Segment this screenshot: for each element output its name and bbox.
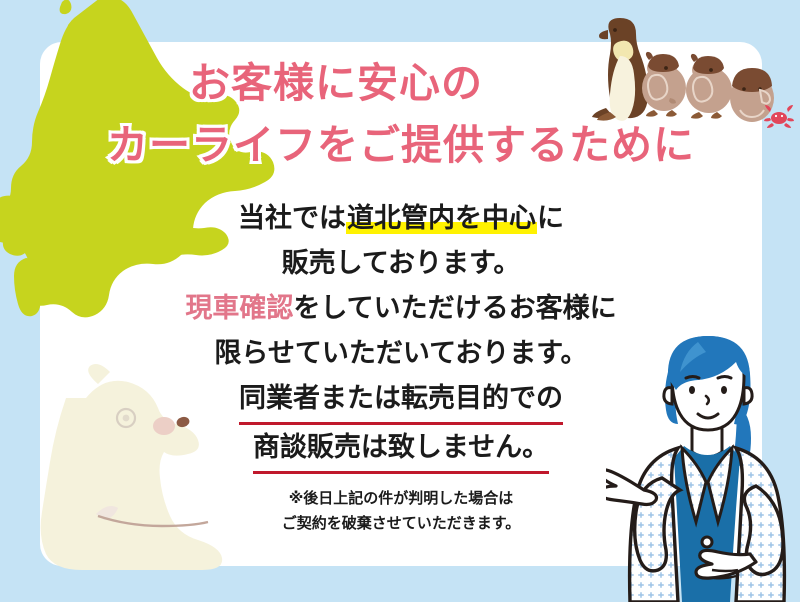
footnote: ※後日上記の件が判明した場合は ご契約を破棄させていただきます。 xyxy=(40,486,762,536)
crab-icon xyxy=(764,104,794,130)
body-line-1: 当社では道北管内を中心に xyxy=(40,196,762,241)
underlined-line-6: 商談販売は致しません。 xyxy=(253,425,549,474)
body-line-4: 限らせていただいております。 xyxy=(40,331,762,376)
title-line-2: カーライフをご提供するために xyxy=(40,114,762,176)
emphasis-genshakakunin: 現車確認 xyxy=(185,293,293,324)
body-line-1-prefix: 当社では xyxy=(238,203,346,234)
body-line-1-suffix: に xyxy=(537,203,564,234)
body-text: 当社では道北管内を中心に 販売しております。 現車確認をしていただけるお客様に … xyxy=(40,196,762,474)
body-line-6: 商談販売は致しません。 xyxy=(40,425,762,474)
body-line-3-rest: をしていただけるお客様に xyxy=(293,293,616,324)
footnote-line-2: ご契約を破棄させていただきます。 xyxy=(40,511,762,536)
underlined-line-5: 同業者または転売目的での xyxy=(239,376,563,425)
page-title: お客様に安心の カーライフをご提供するために xyxy=(40,52,762,176)
body-line-3: 現車確認をしていただけるお客様に xyxy=(40,286,762,331)
poster-canvas: お客様に安心の カーライフをご提供するために 当社では道北管内を中心に 販売して… xyxy=(0,0,800,600)
body-line-2: 販売しております。 xyxy=(40,241,762,286)
footnote-line-1: ※後日上記の件が判明した場合は xyxy=(40,486,762,511)
highlight-dohoku: 道北管内を中心 xyxy=(346,203,537,234)
title-line-1: お客様に安心の xyxy=(40,52,762,114)
body-line-5: 同業者または転売目的での xyxy=(40,376,762,425)
